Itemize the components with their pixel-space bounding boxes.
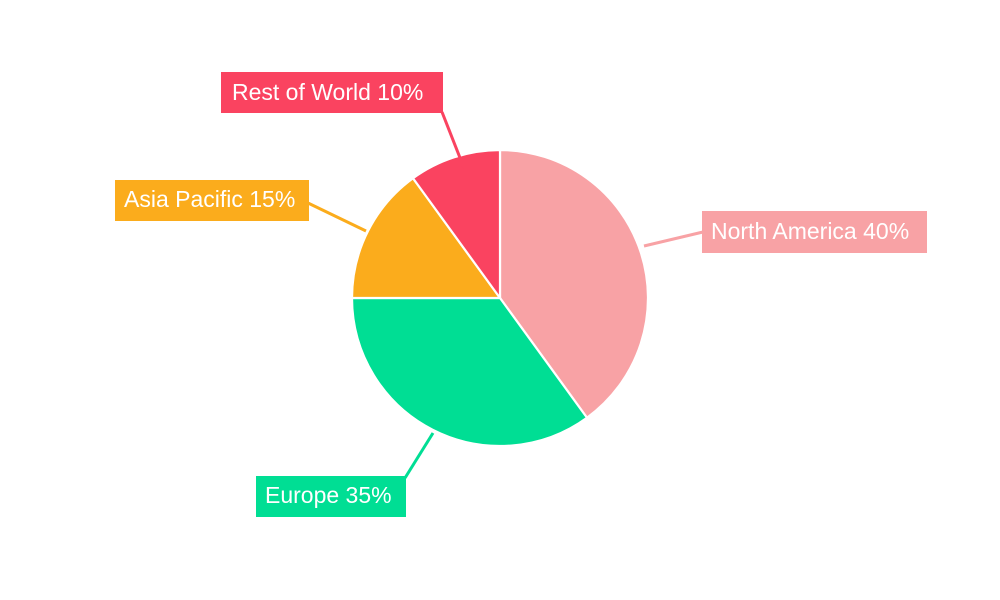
- pie-slices-group: North America 40%Europe 35%Asia Pacific …: [352, 150, 648, 446]
- callout-asia-pacific[interactable]: Asia Pacific 15%: [115, 180, 309, 221]
- callout-europe[interactable]: Europe 35%: [256, 476, 406, 517]
- callout-north-america[interactable]: North America 40%: [702, 211, 927, 253]
- callout-label-europe: Europe 35%: [265, 482, 392, 508]
- leader-line-asia-pacific: [308, 203, 366, 231]
- pie-chart-svg: North America 40%Europe 35%Asia Pacific …: [0, 0, 1000, 600]
- pie-chart-figure: North America 40%Europe 35%Asia Pacific …: [0, 0, 1000, 600]
- leader-line-europe: [405, 433, 433, 478]
- leader-line-north-america: [644, 232, 703, 246]
- callout-label-rest-of-world: Rest of World 10%: [232, 79, 423, 105]
- callout-rest-of-world[interactable]: Rest of World 10%: [221, 72, 443, 113]
- callout-label-north-america: North America 40%: [711, 218, 909, 244]
- callout-label-asia-pacific: Asia Pacific 15%: [124, 186, 295, 212]
